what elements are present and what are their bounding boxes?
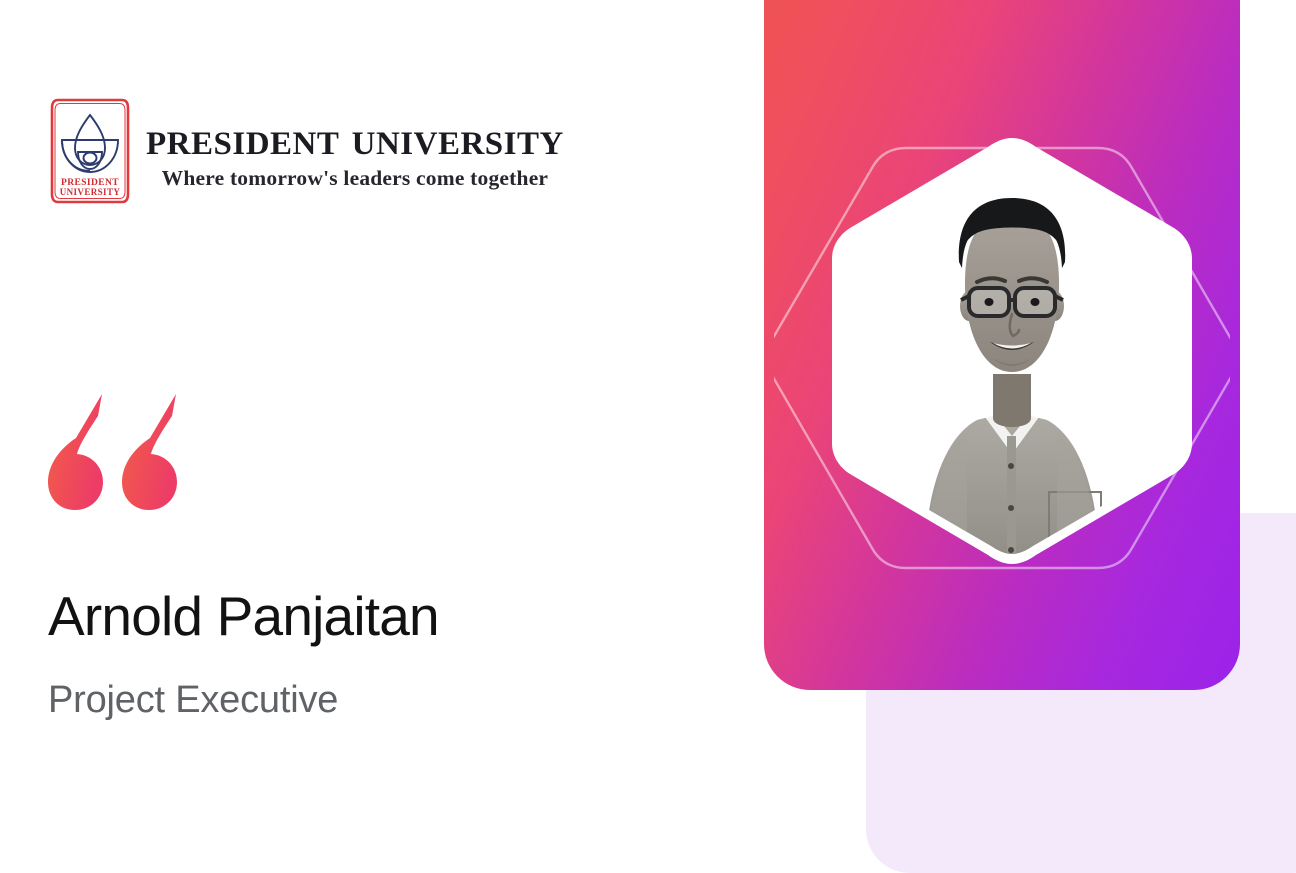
person-name: Arnold Panjaitan — [48, 586, 439, 647]
portrait-photo — [817, 136, 1207, 566]
hexagon-photo-frame — [817, 136, 1207, 566]
crest-text-line2: UNIVERSITY — [60, 187, 121, 197]
university-logo-lockup: PRESIDENT UNIVERSITY President Universit… — [48, 96, 564, 206]
testimonial-slide: PRESIDENT UNIVERSITY President Universit… — [0, 0, 1296, 873]
university-title: President University — [146, 116, 564, 164]
university-wordmark: President University Where tomorrow's le… — [146, 116, 564, 191]
left-content-column: PRESIDENT UNIVERSITY President Universit… — [0, 0, 764, 873]
photo-gradient-card — [764, 0, 1240, 690]
university-tagline: Where tomorrow's leaders come together — [162, 167, 549, 191]
quotation-mark-icon — [46, 392, 186, 512]
president-university-crest-icon: PRESIDENT UNIVERSITY — [48, 96, 132, 206]
person-role: Project Executive — [48, 680, 338, 722]
